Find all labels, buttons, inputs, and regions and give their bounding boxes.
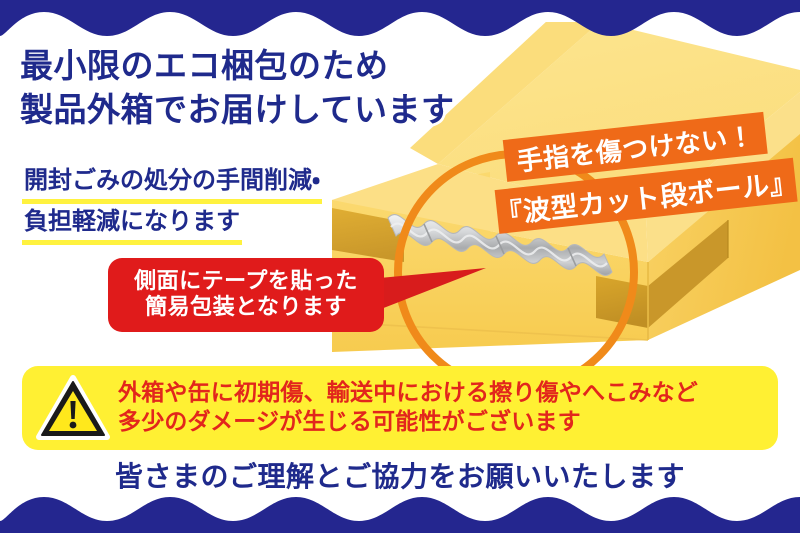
damage-warning-line-2: 多少のダメージが生じる可能性がございます [118,408,698,437]
tape-callout-line-1: 側面にテープを貼った [134,269,358,295]
page-title: 最小限のエコ梱包のため 製品外箱でお届けしています [20,44,455,131]
navy-wave-bottom [0,489,800,533]
tape-callout: 側面にテープを貼った 簡易包装となります [108,258,384,332]
headline-line-1: 最小限のエコ梱包のため [20,44,455,88]
tape-callout-text: 側面にテープを貼った 簡易包装となります [108,258,384,332]
subtitle-line-2: 負担軽減になります [22,203,242,244]
headline-line-2: 製品外箱でお届けしています [20,88,455,132]
damage-warning-box: 外箱や缶に初期傷、輸送中における擦り傷やへこみなど 多少のダメージが生じる可能性… [22,366,778,450]
damage-warning-text: 外箱や缶に初期傷、輸送中における擦り傷やへこみなど 多少のダメージが生じる可能性… [118,379,698,438]
eco-packaging-notice-banner: 最小限のエコ梱包のため 製品外箱でお届けしています 開封ごみの処分の手間削減・ … [0,0,800,533]
closing-message: 皆さまのご理解とご協力をお願いいたします [0,455,800,495]
tape-callout-line-2: 簡易包装となります [145,295,347,321]
subtitle-line-1: 開封ごみの処分の手間削減・ [22,162,322,203]
warning-triangle-icon [36,375,110,441]
damage-warning-line-1: 外箱や缶に初期傷、輸送中における擦り傷やへこみなど [118,379,698,408]
subtitle-row-2: 負担軽減になります [22,203,322,244]
subtitle-row-1: 開封ごみの処分の手間削減・ [22,162,322,203]
subtitle: 開封ごみの処分の手間削減・ 負担軽減になります [22,162,322,244]
